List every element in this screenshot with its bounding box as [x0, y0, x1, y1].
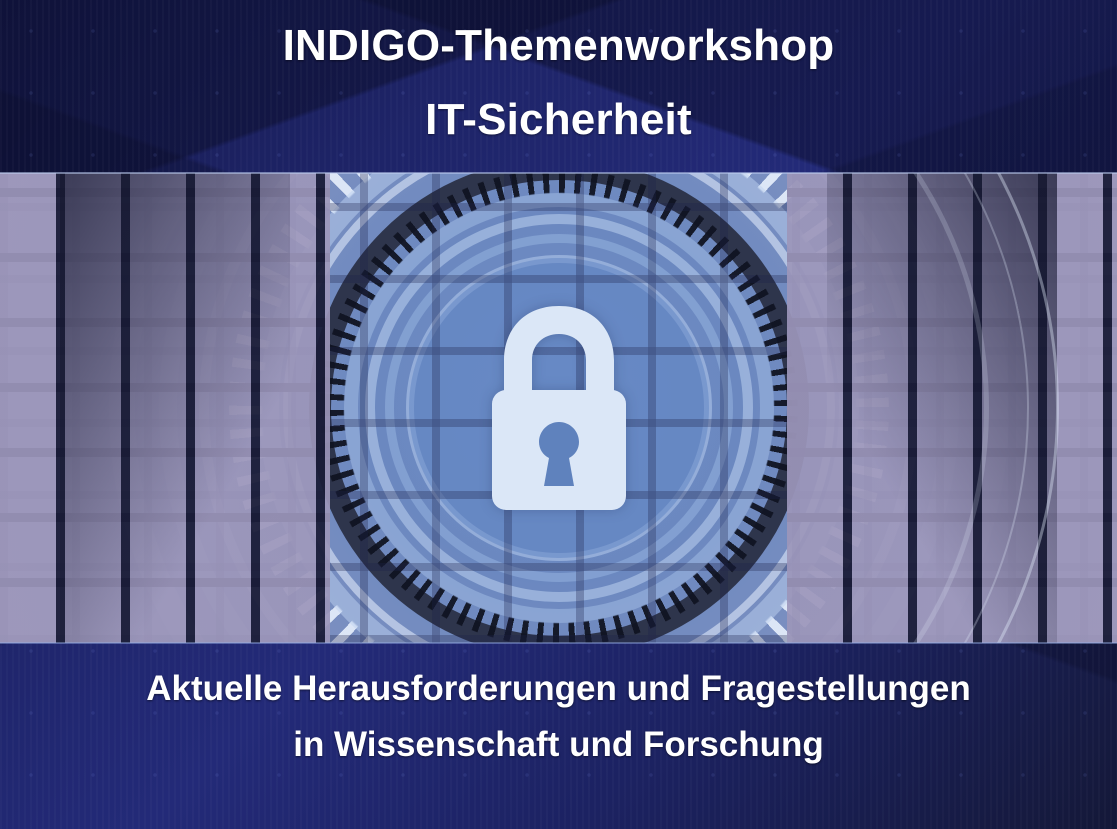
slide-subtitle-line-1: Aktuelle Herausforderungen und Fragestel… [146, 671, 971, 706]
subtitle-block: Aktuelle Herausforderungen und Fragestel… [0, 643, 1117, 829]
slide-title-line-2: IT-Sicherheit [425, 98, 692, 142]
slide-title-line-1: INDIGO-Themenworkshop [283, 24, 835, 68]
title-slide: INDIGO-Themenworkshop IT-Sicherheit Aktu… [0, 0, 1117, 829]
security-graphic-band [0, 173, 1117, 643]
padlock-icon [464, 298, 654, 518]
title-block: INDIGO-Themenworkshop IT-Sicherheit [0, 0, 1117, 173]
slide-subtitle-line-2: in Wissenschaft und Forschung [293, 727, 824, 762]
